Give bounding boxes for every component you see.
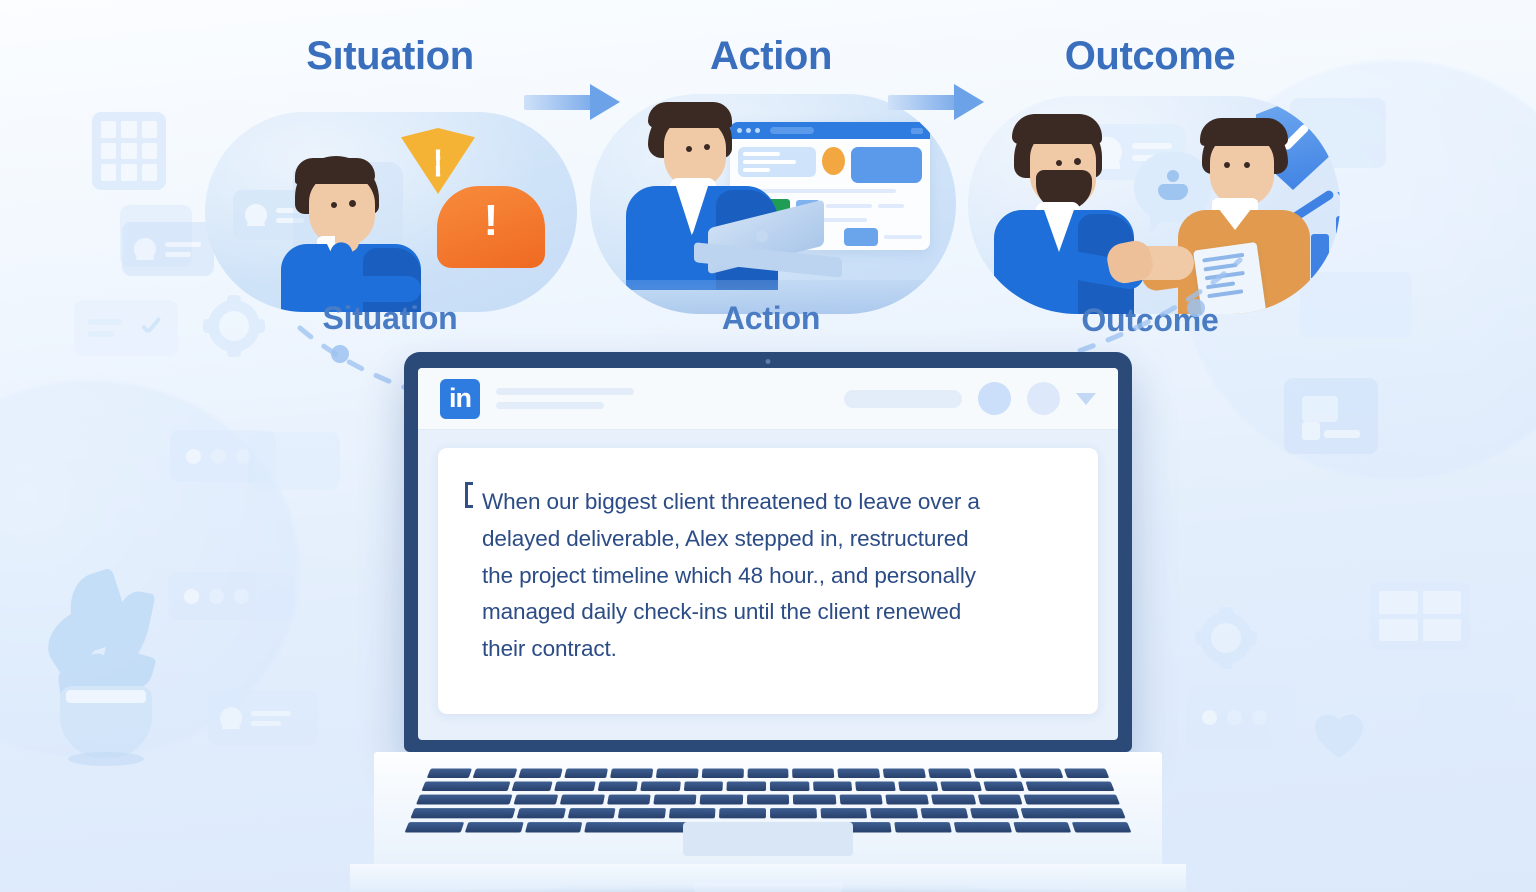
post-line: managed daily check-ins until the client… (482, 594, 1058, 631)
profile-card-icon (208, 690, 318, 746)
window-card-icon (248, 432, 340, 490)
text-cursor-bracket-icon (465, 482, 468, 508)
recommendation-post-card[interactable]: When our biggest client threatened to le… (438, 448, 1098, 714)
grid-tiles-icon (1370, 582, 1470, 650)
heart-card-icon (1302, 700, 1376, 768)
outcome-title-top: Outcome (950, 34, 1350, 79)
post-line: When our biggest client threatened to le… (482, 484, 1058, 521)
avatar[interactable] (1027, 382, 1060, 415)
linkedin-topbar: in (418, 368, 1118, 430)
nav-placeholder-bars (496, 388, 634, 409)
bar-chart-card-icon (1284, 378, 1378, 454)
laptop-lid: in When our biggest client threatened to… (404, 352, 1132, 752)
post-line: delayed deliverable, Alex stepped in, re… (482, 521, 1058, 558)
chevron-down-icon[interactable] (1076, 393, 1096, 405)
avatar[interactable] (978, 382, 1011, 415)
post-line: their contract. (482, 631, 1058, 668)
post-text: When our biggest client threatened to le… (482, 484, 1058, 668)
infographic-stage: Sıtuation (0, 0, 1536, 892)
story-pipeline: Sıtuation (0, 0, 1536, 350)
gear-badge-icon (1200, 612, 1252, 664)
laptop-screen: in When our biggest client threatened to… (418, 368, 1118, 740)
laptop-deck (374, 752, 1162, 864)
webcam-dot (766, 359, 771, 364)
action-title-top: Action (576, 34, 966, 79)
post-line: the project timeline which 48 hour., and… (482, 558, 1058, 595)
laptop-device: in When our biggest client threatened to… (404, 352, 1132, 892)
window-card-icon (1418, 692, 1514, 752)
screen-content: When our biggest client threatened to le… (418, 430, 1118, 740)
trackpad[interactable] (683, 822, 853, 856)
dots-card-icon (1186, 686, 1296, 748)
linkedin-logo-text: in (449, 382, 471, 413)
situation-title-top: Sıtuation (180, 34, 600, 79)
search-input[interactable] (844, 390, 962, 408)
potted-plant-icon (46, 566, 206, 796)
linkedin-logo[interactable]: in (440, 379, 480, 419)
bar-chart-glyph (1284, 378, 1378, 454)
